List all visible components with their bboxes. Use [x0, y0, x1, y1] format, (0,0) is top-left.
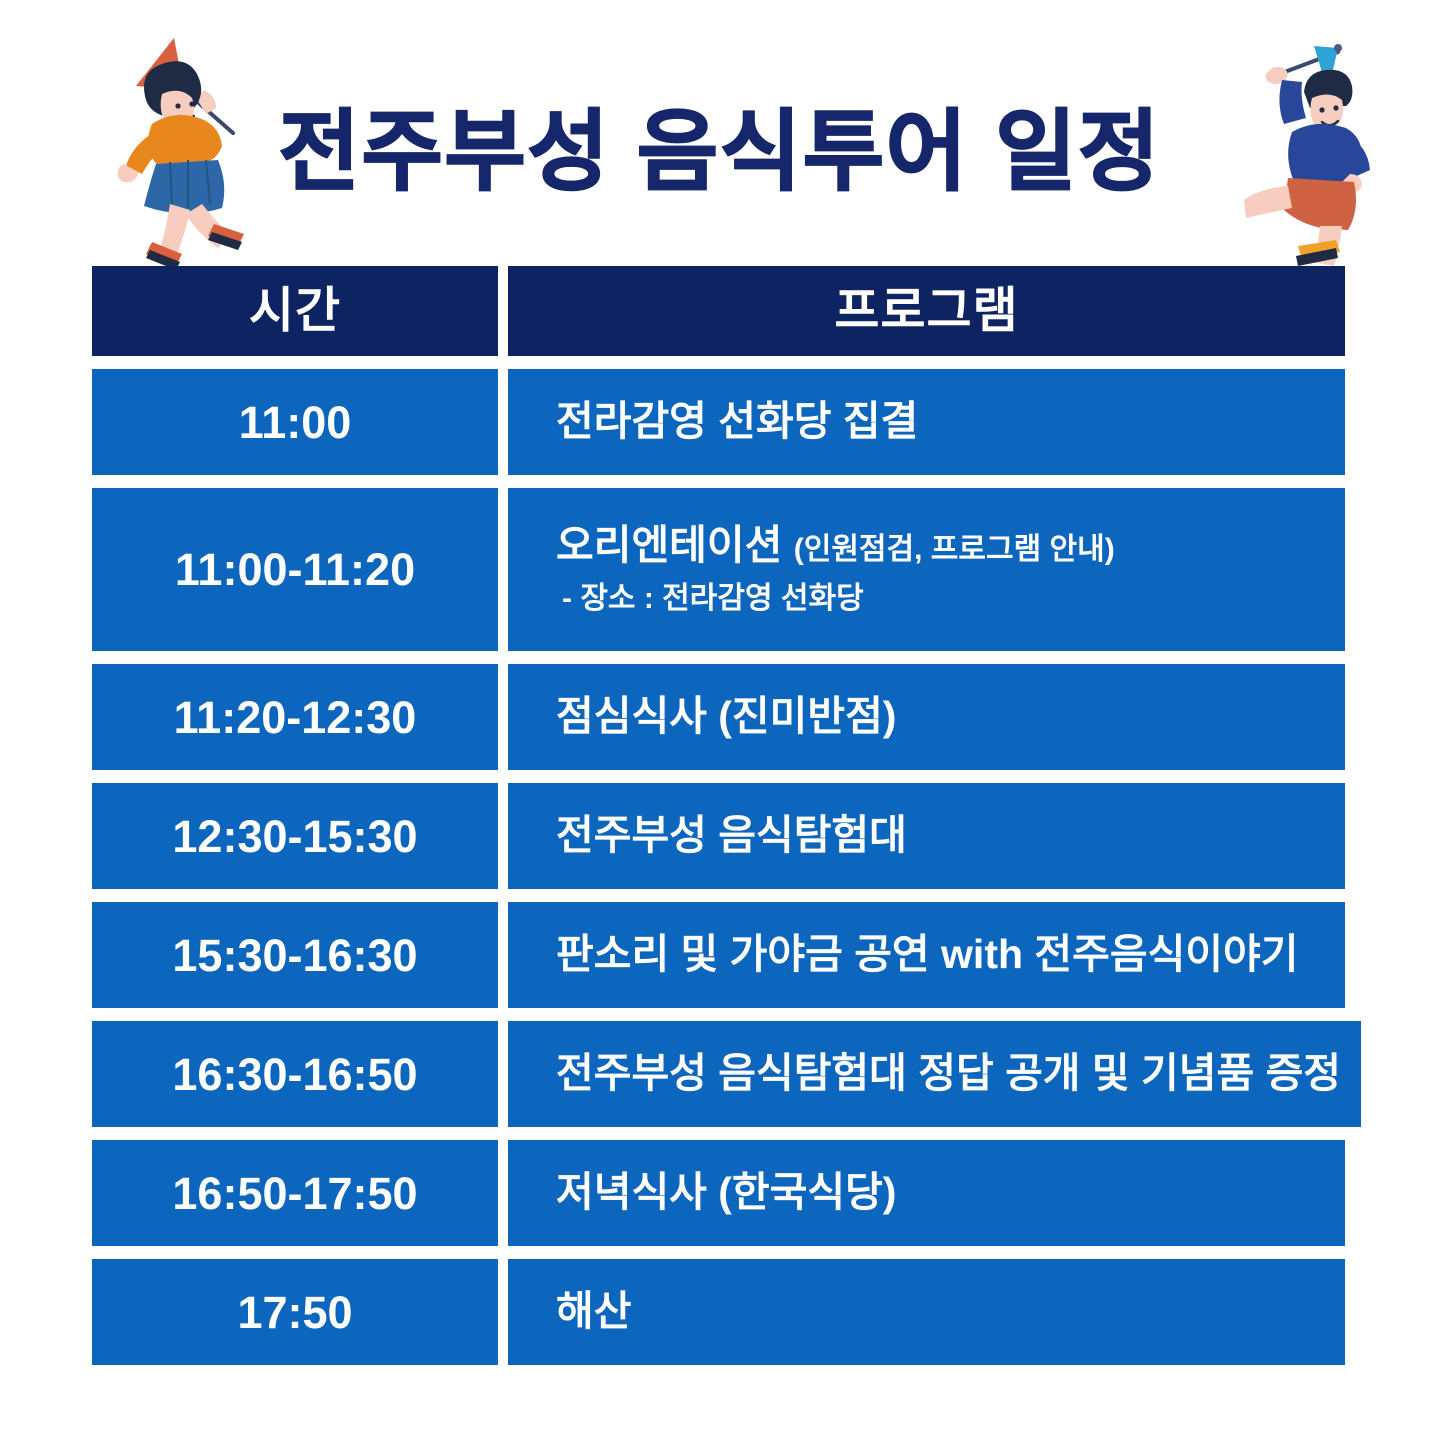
poster-canvas: 전주부성 음식투어 일정	[0, 0, 1440, 1440]
row-program-label: 전주부성 음식탐험대	[556, 812, 1325, 859]
row-time-cell: 12:30-15:30	[92, 783, 498, 889]
row-time-label: 15:30-16:30	[172, 933, 417, 978]
table-row: 16:30-16:50 전주부성 음식탐험대 정답 공개 및 기념품 증정	[92, 1021, 1345, 1127]
row-time-cell: 15:30-16:30	[92, 902, 498, 1008]
schedule-table: 시간 프로그램 11:00 전라감영 선화당 집결 11:00-11:20 오리…	[92, 266, 1345, 1365]
column-header-program-label: 프로그램	[834, 287, 1018, 336]
row-program-cell: 판소리 및 가야금 공연 with 전주음식이야기	[508, 902, 1345, 1008]
row-program-cell: 점심식사 (진미반점)	[508, 664, 1345, 770]
row-time-label: 11:20-12:30	[174, 695, 417, 740]
table-row: 11:00-11:20 오리엔테이션 (인원점검, 프로그램 안내) - 장소 …	[92, 488, 1345, 651]
row-time-label: 12:30-15:30	[172, 814, 417, 859]
row-time-cell: 11:00-11:20	[92, 488, 498, 651]
row-program-label: 판소리 및 가야금 공연 with 전주음식이야기	[556, 931, 1325, 978]
row-time-label: 11:00	[239, 400, 352, 445]
table-row: 11:20-12:30 점심식사 (진미반점)	[92, 664, 1345, 770]
column-header-program: 프로그램	[508, 266, 1345, 356]
row-program-label: 점심식사 (진미반점)	[556, 693, 1325, 740]
table-row: 16:50-17:50 저녁식사 (한국식당)	[92, 1140, 1345, 1246]
row-program-label: 저녁식사 (한국식당)	[556, 1169, 1325, 1216]
table-header-row: 시간 프로그램	[92, 266, 1345, 356]
table-row: 12:30-15:30 전주부성 음식탐험대	[92, 783, 1345, 889]
row-program-label: 전라감영 선화당 집결	[556, 398, 1325, 445]
row-program-cell: 전주부성 음식탐험대	[508, 783, 1345, 889]
row-time-label: 17:50	[237, 1290, 352, 1335]
row-program-cell: 전라감영 선화당 집결	[508, 369, 1345, 475]
row-program-note: (인원점검, 프로그램 안내)	[794, 533, 1115, 566]
row-program-label: 해산	[556, 1288, 1325, 1335]
row-program-cell: 저녁식사 (한국식당)	[508, 1140, 1345, 1246]
column-header-time: 시간	[92, 266, 498, 356]
table-row: 17:50 해산	[92, 1259, 1345, 1365]
row-time-cell: 16:30-16:50	[92, 1021, 498, 1127]
column-header-time-label: 시간	[249, 287, 341, 336]
row-program-line: 오리엔테이션 (인원점검, 프로그램 안내)	[556, 522, 1325, 569]
row-program-cell: 해산	[508, 1259, 1345, 1365]
page-title: 전주부성 음식투어 일정	[279, 108, 1162, 196]
row-program-cell: 전주부성 음식탐험대 정답 공개 및 기념품 증정	[508, 1021, 1361, 1127]
table-row: 15:30-16:30 판소리 및 가야금 공연 with 전주음식이야기	[92, 902, 1345, 1008]
row-time-cell: 11:00	[92, 369, 498, 475]
row-program-label: 오리엔테이션	[556, 522, 782, 568]
title-band: 전주부성 음식투어 일정	[0, 0, 1440, 266]
row-time-cell: 17:50	[92, 1259, 498, 1365]
boy-with-blue-flag-illustration	[1238, 18, 1428, 273]
row-program-label: 전주부성 음식탐험대 정답 공개 및 기념품 증정	[556, 1050, 1341, 1097]
row-program-sub: - 장소 : 전라감영 선화당	[556, 581, 1325, 617]
row-program-cell: 오리엔테이션 (인원점검, 프로그램 안내) - 장소 : 전라감영 선화당	[508, 488, 1345, 651]
row-time-label: 16:30-16:50	[172, 1052, 417, 1097]
girl-with-red-flag-illustration	[108, 28, 298, 273]
row-time-cell: 16:50-17:50	[92, 1140, 498, 1246]
table-row: 11:00 전라감영 선화당 집결	[92, 369, 1345, 475]
row-time-label: 11:00-11:20	[175, 547, 415, 592]
row-time-label: 16:50-17:50	[172, 1171, 417, 1216]
row-time-cell: 11:20-12:30	[92, 664, 498, 770]
